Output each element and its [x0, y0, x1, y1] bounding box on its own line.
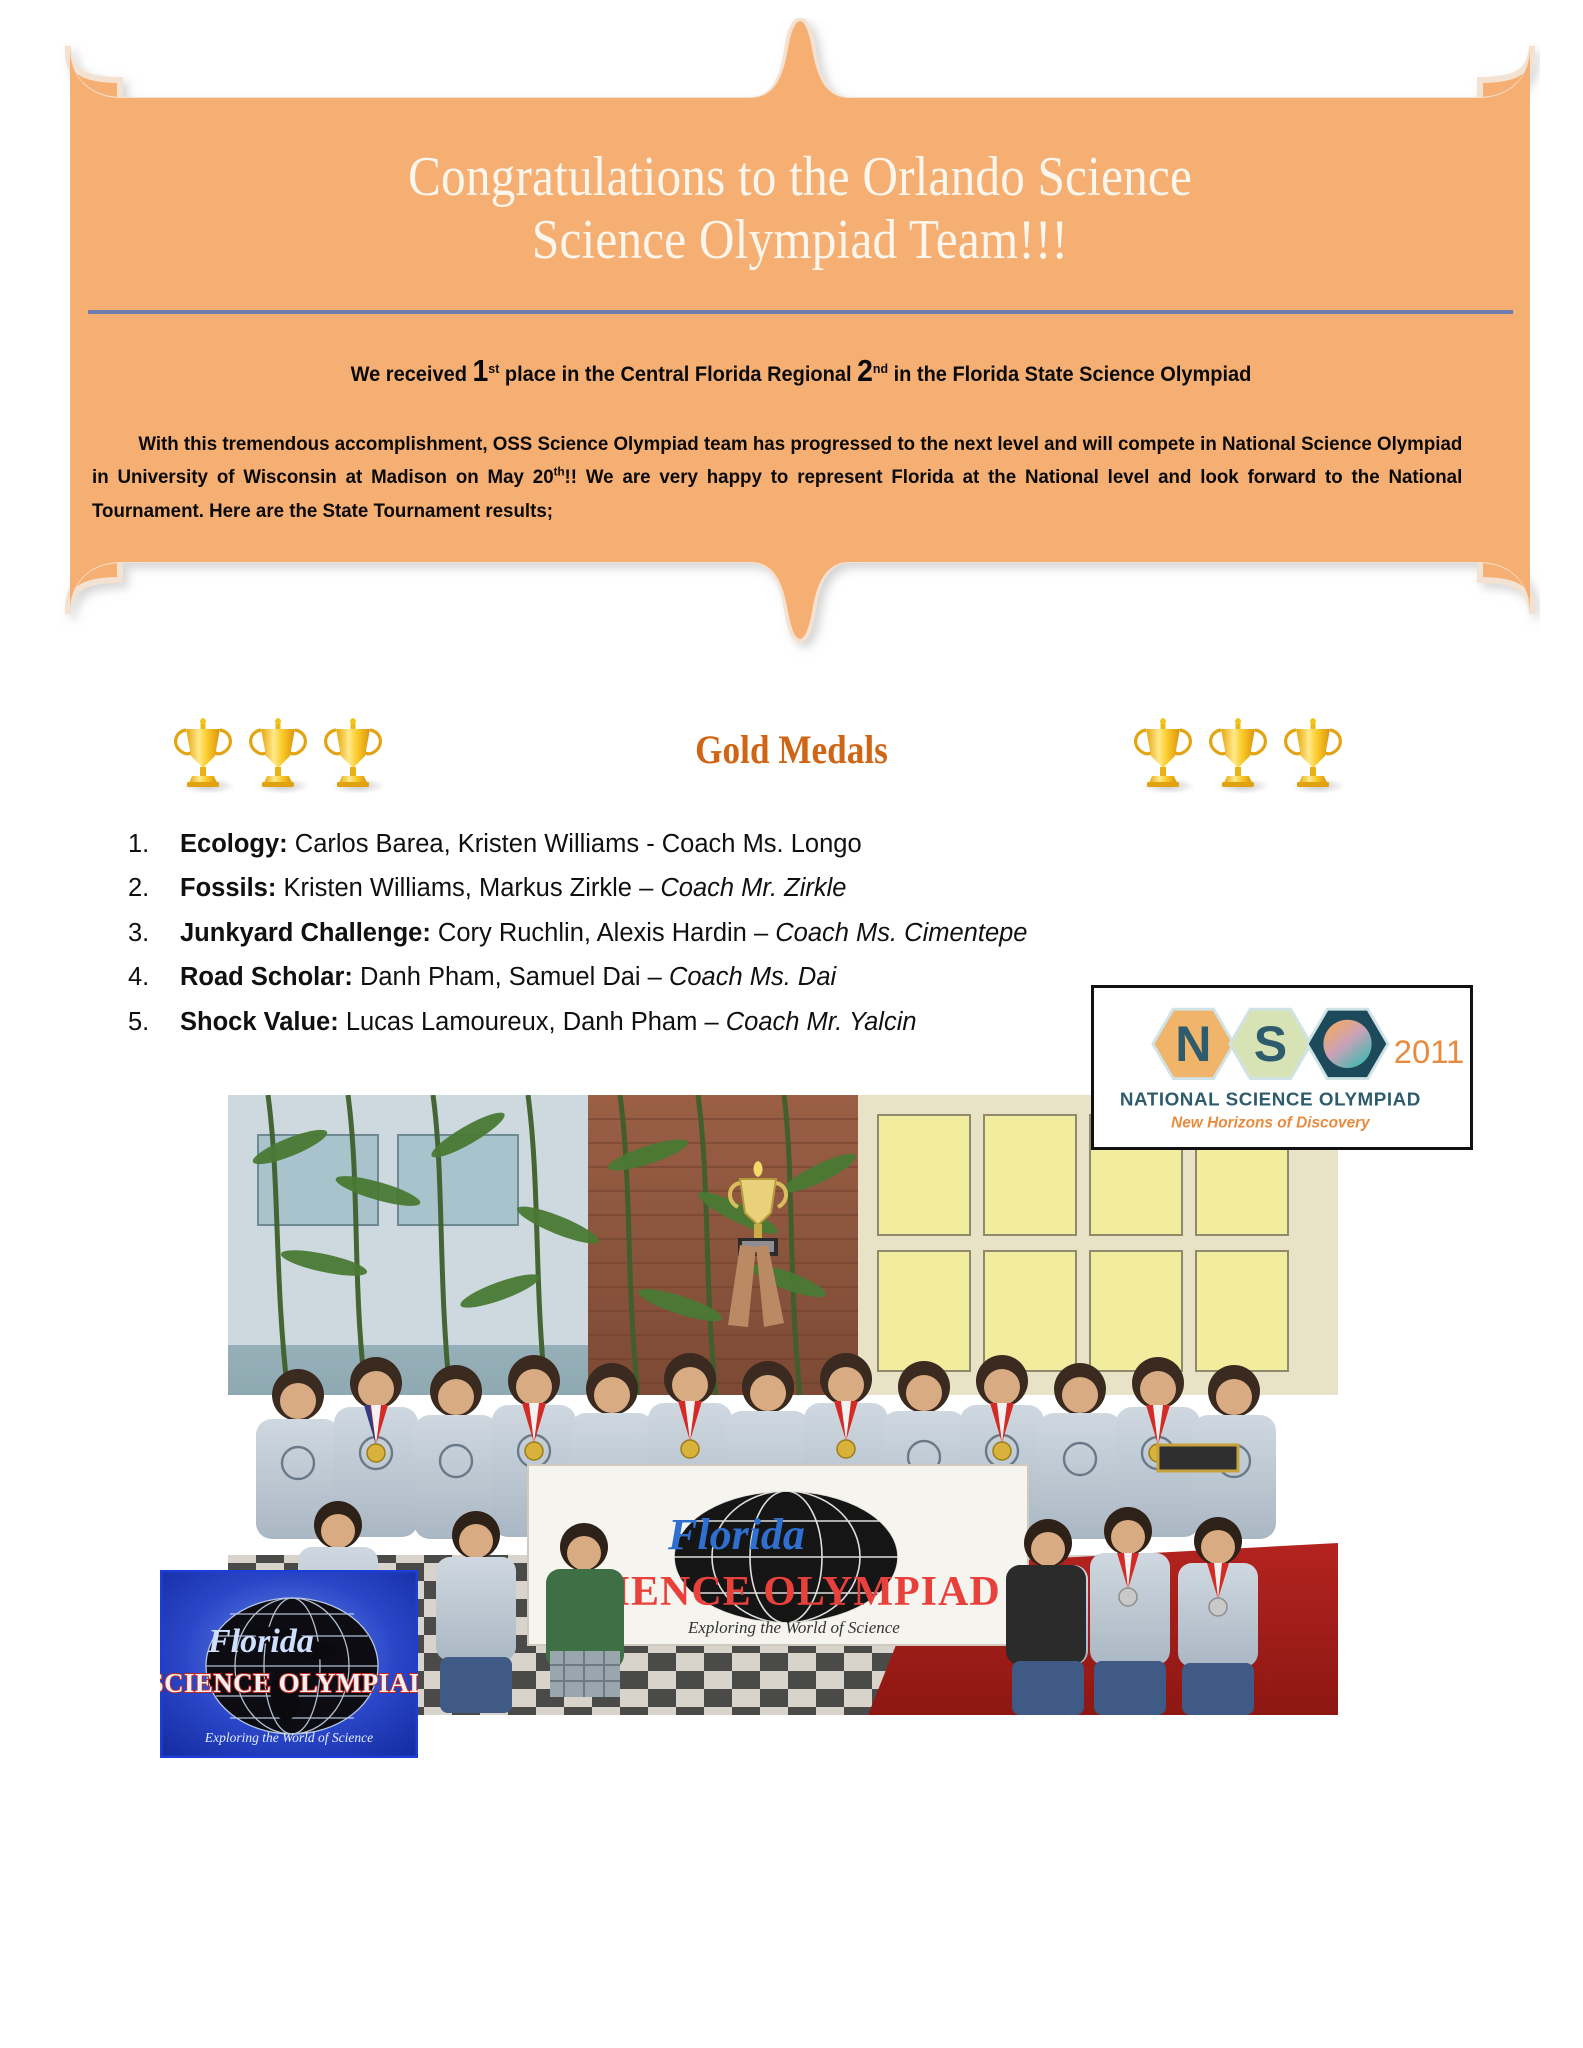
list-item-names: Carlos Barea, Kristen Williams - Coach M… — [288, 830, 862, 858]
lead-text-2: place in the Central Florida Regional — [499, 362, 857, 386]
lead-text-3: in the Florida State Science Olympiad — [888, 362, 1251, 386]
list-item-event: Ecology: — [180, 830, 288, 858]
paragraph-ordinal-suffix: th — [554, 465, 565, 479]
lead-ordinal-1-suffix: st — [488, 361, 499, 376]
list-item-names: Lucas Lamoureux, Danh Pham – — [339, 1008, 726, 1036]
list-item-names: Kristen Williams, Markus Zirkle – — [276, 874, 660, 902]
lead-ordinal-2-number: 2 — [857, 354, 873, 388]
list-item-number: 3. — [128, 917, 180, 951]
list-item-number: 1. — [128, 828, 180, 862]
florida-main-text: SCIENCE OLYMPIAD — [160, 1668, 418, 1698]
gold-medal-results-list: 1. Ecology: Carlos Barea, Kristen Willia… — [128, 828, 1248, 1050]
photo-banner-main: SCIENCE OLYMPIAD — [558, 1569, 1001, 1615]
trophy-group-right — [1128, 712, 1348, 794]
nso-tagline: New Horizons of Discovery — [1171, 1115, 1371, 1132]
nso-2011-logo: N S 2011 NATIONAL SCIENCE OLYMPIAD New H… — [1091, 985, 1473, 1150]
list-item-event: Road Scholar: — [180, 963, 353, 991]
list-item-number: 2. — [128, 872, 180, 906]
list-item-names: Danh Pham, Samuel Dai – — [353, 963, 669, 991]
list-item: 3. Junkyard Challenge: Cory Ruchlin, Ale… — [128, 917, 1248, 951]
list-item: 5. Shock Value: Lucas Lamoureux, Danh Ph… — [128, 1006, 1248, 1040]
florida-tagline: Exploring the World of Science — [204, 1730, 373, 1745]
list-item-number: 5. — [128, 1006, 180, 1040]
list-item-coach: Coach Ms. Cimentepe — [775, 919, 1027, 947]
congratulations-banner: Congratulations to the Orlando Science S… — [60, 18, 1540, 688]
gold-medals-header-row: Gold Medals — [0, 712, 1583, 802]
nso-letter-n: N — [1175, 1016, 1211, 1072]
list-item: 4. Road Scholar: Danh Pham, Samuel Dai –… — [128, 961, 1248, 995]
list-item: 1. Ecology: Carlos Barea, Kristen Willia… — [128, 828, 1248, 862]
nso-year-label: 2011 — [1394, 1033, 1464, 1070]
lead-ordinal-1-number: 1 — [473, 354, 489, 388]
list-item-coach: Coach Ms. Dai — [669, 963, 836, 991]
photo-banner-script: Florida — [667, 1510, 805, 1559]
list-item-number: 4. — [128, 961, 180, 995]
list-item-event: Junkyard Challenge: — [180, 919, 431, 947]
nso-logo-graphic: N S 2011 NATIONAL SCIENCE OLYMPIAD New H… — [1094, 988, 1470, 1147]
florida-science-olympiad-logo: Florida SCIENCE OLYMPIAD Exploring the W… — [160, 1570, 418, 1758]
list-item-coach: Coach Mr. Yalcin — [726, 1008, 917, 1036]
banner-title: Congratulations to the Orlando Science S… — [175, 146, 1425, 273]
trophy-icon — [1278, 712, 1348, 794]
list-item-names: Cory Ruchlin, Alexis Hardin – — [431, 919, 775, 947]
florida-logo-graphic: Florida SCIENCE OLYMPIAD Exploring the W… — [160, 1570, 418, 1758]
florida-script-word: Florida — [207, 1623, 314, 1660]
trophy-icon — [1128, 712, 1198, 794]
banner-lead-line: We received 1st place in the Central Flo… — [140, 354, 1462, 389]
nso-org-name: NATIONAL SCIENCE OLYMPIAD — [1120, 1089, 1421, 1110]
photo-banner-tagline: Exploring the World of Science — [687, 1618, 900, 1637]
trophy-icon — [1203, 712, 1273, 794]
list-item: 2. Fossils: Kristen Williams, Markus Zir… — [128, 872, 1248, 906]
list-item-event: Fossils: — [180, 874, 276, 902]
lead-ordinal-2-suffix: nd — [873, 361, 888, 376]
list-item-event: Shock Value: — [180, 1008, 339, 1036]
banner-divider — [88, 310, 1513, 314]
nso-letter-s: S — [1254, 1016, 1287, 1072]
banner-paragraph: With this tremendous accomplishment, OSS… — [92, 428, 1462, 528]
lead-text-1: We received — [351, 362, 473, 386]
list-item-coach: Coach Mr. Zirkle — [660, 874, 846, 902]
